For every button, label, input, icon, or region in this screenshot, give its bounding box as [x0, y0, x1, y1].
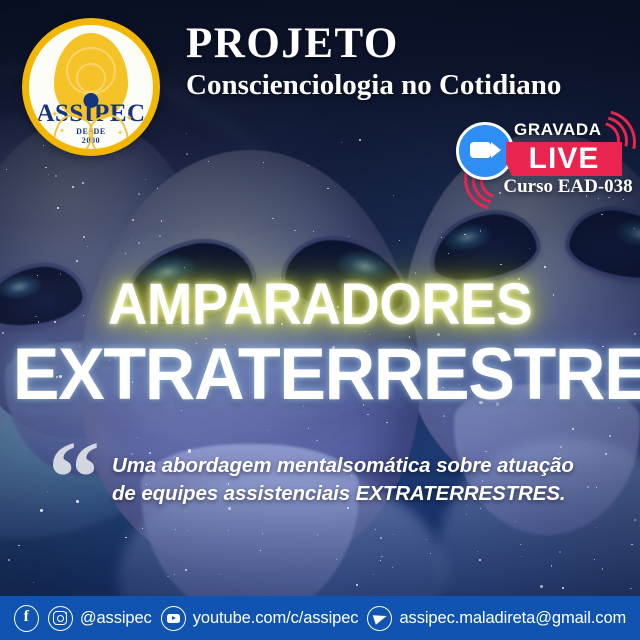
- logo-sparkle-icon: ✦: [51, 109, 59, 120]
- assipec-logo: ASSIPEC DESDE 2000 ✦ ✦ ✦ ✦: [22, 18, 160, 156]
- youtube-url: youtube.com/c/assipec: [193, 609, 359, 628]
- footer-item-youtube[interactable]: youtube.com/c/assipec: [161, 606, 359, 631]
- poster-canvas: ASSIPEC DESDE 2000 ✦ ✦ ✦ ✦ PROJETO Consc…: [0, 0, 640, 640]
- quote-mark-icon: “: [48, 440, 100, 517]
- logo-sparkle-icon: ✦: [59, 127, 65, 135]
- course-code-label: Curso EAD-038: [498, 176, 638, 198]
- header-text-block: PROJETO Conscienciologia no Cotidiano: [186, 22, 626, 102]
- footer-contact-bar: f @assipec youtube.com/c/assipec assipec…: [0, 596, 640, 640]
- email-address: assipec.maladireta@gmail.com: [399, 609, 626, 628]
- live-label: LIVE: [506, 143, 622, 175]
- main-title-block: AMPARADORES EXTRATERRESTRES: [0, 276, 640, 411]
- instagram-icon[interactable]: [48, 606, 73, 631]
- camera-body-shape: [470, 142, 491, 158]
- live-badge: GRAVADA LIVE Curso EAD-038: [452, 112, 638, 206]
- footer-item-telegram[interactable]: assipec.maladireta@gmail.com: [367, 606, 626, 631]
- logo-sparkle-icon: ✦: [117, 129, 123, 137]
- live-banner-shape: LIVE: [506, 142, 622, 176]
- footer-item-facebook[interactable]: f: [14, 605, 39, 632]
- footer-item-instagram[interactable]: @assipec: [48, 606, 152, 631]
- recorded-label: GRAVADA: [514, 120, 602, 140]
- logo-face: ASSIPEC DESDE 2000 ✦ ✦ ✦ ✦: [29, 25, 153, 149]
- title-line-1: AMPARADORES: [19, 276, 621, 334]
- quote-text: Uma abordagem mentalsomática sobre atuaç…: [112, 440, 593, 517]
- quote-block: “ Uma abordagem mentalsomática sobre atu…: [48, 440, 593, 517]
- youtube-icon[interactable]: [161, 606, 186, 631]
- project-subtitle: Conscienciologia no Cotidiano: [186, 70, 626, 102]
- logo-sparkle-icon: ✦: [125, 113, 133, 124]
- video-camera-icon: [456, 122, 514, 180]
- title-line-2: EXTRATERRESTRES: [13, 338, 627, 411]
- telegram-icon[interactable]: [367, 606, 392, 631]
- facebook-icon[interactable]: f: [14, 605, 39, 632]
- camera-lens-shape: [491, 142, 501, 158]
- project-title: PROJETO: [186, 22, 626, 65]
- instagram-handle: @assipec: [80, 609, 152, 628]
